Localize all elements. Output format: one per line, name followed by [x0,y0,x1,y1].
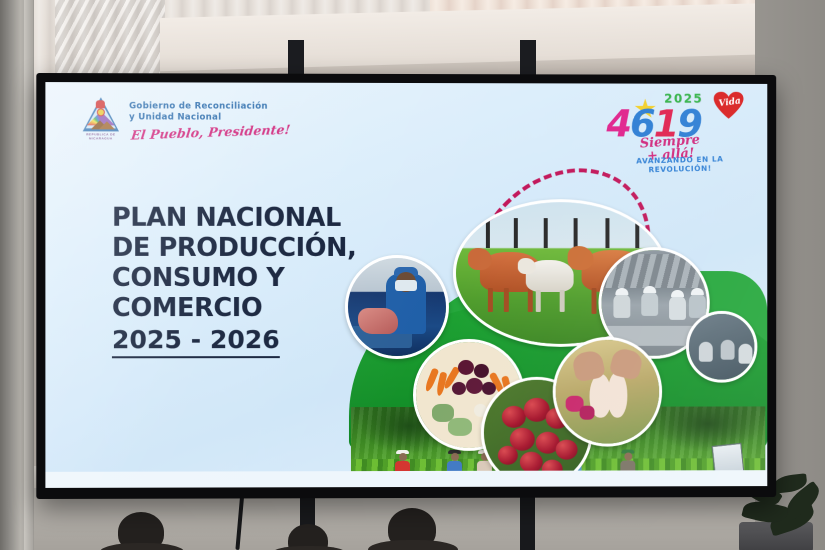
slide-screen: REPUBLICA DE NICARAGUA Gobierno de Recon… [45,82,767,488]
gov-line-2: y Unidad Nacional [129,112,290,123]
title-years: 2025 - 2026 [112,325,280,358]
photo-dairy-milking [553,337,662,447]
wall-left-edge [24,0,33,550]
logo-digit-1: 4 [606,102,630,145]
stand-leg-right [520,494,535,550]
logo-4619: 2025 Vida 4619 Siempre + allá! AVANZANDO… [606,91,745,169]
audience-shoulders-3 [368,540,458,550]
photo-collage [341,171,767,488]
presentation-display[interactable]: REPUBLICA DE NICARAGUA Gobierno de Recon… [36,73,776,499]
nicaragua-coat-of-arms-icon: REPUBLICA DE NICARAGUA [80,97,122,139]
emblem-ring-text: REPUBLICA DE NICARAGUA [80,132,122,140]
government-slogan: El Pueblo, Presidente! [130,122,291,143]
slide-bottom-margin [45,470,767,488]
photo-industry-detail [686,311,757,383]
government-brand-header: REPUBLICA DE NICARAGUA Gobierno de Recon… [80,97,291,140]
gov-line-1: Gobierno de Reconciliación [129,101,290,112]
